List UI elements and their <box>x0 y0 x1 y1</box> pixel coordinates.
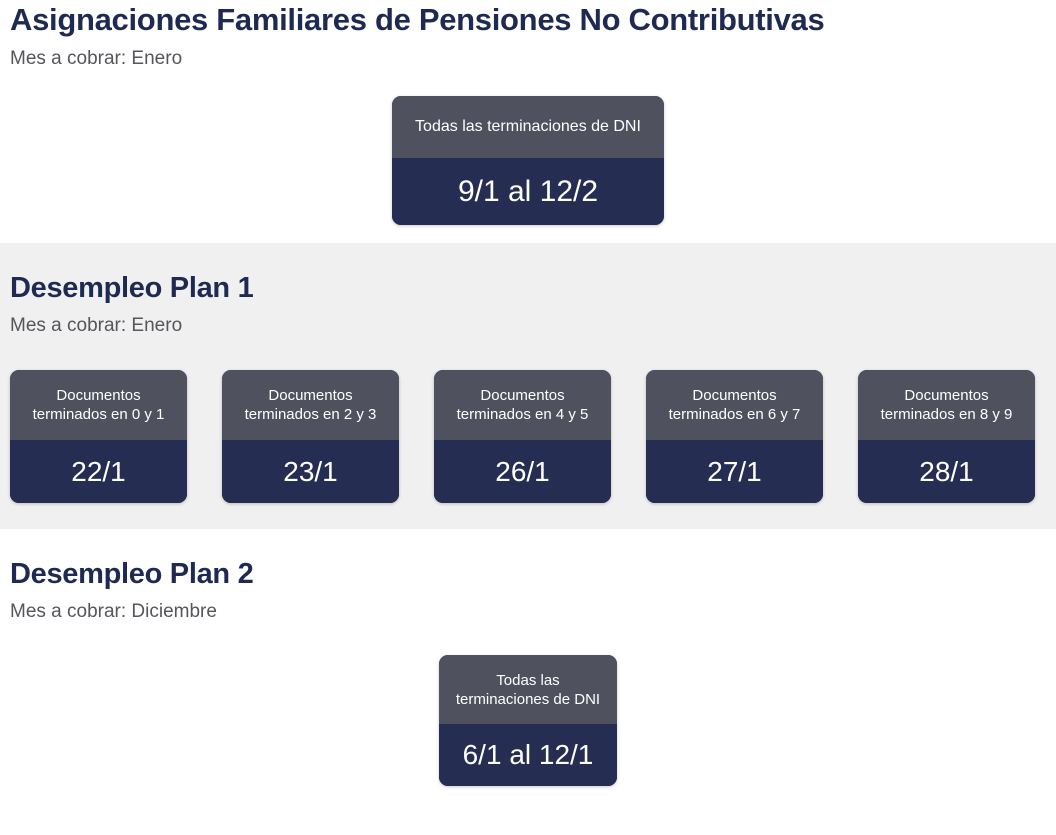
section-desempleo-plan-2: Desempleo Plan 2 Mes a cobrar: Diciembre… <box>0 529 1056 786</box>
payment-card[interactable]: Documentos terminados en 0 y 1 22/1 <box>10 370 187 503</box>
payment-card-header: Todas las terminaciones de DNI <box>439 655 617 724</box>
section-title: Desempleo Plan 1 <box>10 271 1046 305</box>
payment-card-header-line: terminados en 0 y 1 <box>33 405 165 424</box>
card-row-asignaciones: Todas las terminaciones de DNI 9/1 al 12… <box>10 96 1046 225</box>
page-title: Asignaciones Familiares de Pensiones No … <box>10 2 1046 39</box>
payment-card-date: 23/1 <box>222 440 399 503</box>
payment-card-header-line: Documentos <box>457 386 589 405</box>
payment-card-header: Documentos terminados en 8 y 9 <box>858 370 1035 440</box>
payment-card-header-line: Todas las terminaciones de DNI <box>415 117 641 137</box>
card-row-desempleo-plan-1: Documentos terminados en 0 y 1 22/1 Docu… <box>10 370 1046 503</box>
payment-card-header: Documentos terminados en 0 y 1 <box>10 370 187 440</box>
payment-card-date: 26/1 <box>434 440 611 503</box>
payment-card-date: 22/1 <box>10 440 187 503</box>
payment-card-date: 28/1 <box>858 440 1035 503</box>
payment-calendar-page: Asignaciones Familiares de Pensiones No … <box>0 0 1056 835</box>
section-subtitle: Mes a cobrar: Diciembre <box>10 601 1046 624</box>
section-subtitle: Mes a cobrar: Enero <box>10 48 1046 71</box>
payment-card[interactable]: Todas las terminaciones de DNI 9/1 al 12… <box>392 96 664 225</box>
payment-card-header-line: Todas las <box>456 671 600 690</box>
payment-card-header-line: Documentos <box>669 386 801 405</box>
payment-card-header: Documentos terminados en 4 y 5 <box>434 370 611 440</box>
payment-card-header-line: terminados en 8 y 9 <box>881 405 1013 424</box>
payment-card[interactable]: Documentos terminados en 6 y 7 27/1 <box>646 370 823 503</box>
payment-card-header: Documentos terminados en 2 y 3 <box>222 370 399 440</box>
payment-card[interactable]: Documentos terminados en 4 y 5 26/1 <box>434 370 611 503</box>
payment-card-date: 27/1 <box>646 440 823 503</box>
payment-card-header-line: terminaciones de DNI <box>456 690 600 709</box>
payment-card-header-line: terminados en 6 y 7 <box>669 405 801 424</box>
card-row-desempleo-plan-2: Todas las terminaciones de DNI 6/1 al 12… <box>10 655 1046 786</box>
payment-card[interactable]: Todas las terminaciones de DNI 6/1 al 12… <box>439 655 617 786</box>
payment-card[interactable]: Documentos terminados en 8 y 9 28/1 <box>858 370 1035 503</box>
payment-card-header: Documentos terminados en 6 y 7 <box>646 370 823 440</box>
payment-card-header-line: Documentos <box>33 386 165 405</box>
payment-card-header-line: Documentos <box>245 386 377 405</box>
payment-card-date: 6/1 al 12/1 <box>439 724 617 786</box>
payment-card-header-line: Documentos <box>881 386 1013 405</box>
section-desempleo-plan-1: Desempleo Plan 1 Mes a cobrar: Enero Doc… <box>0 243 1056 529</box>
section-asignaciones-familiares-pnc: Asignaciones Familiares de Pensiones No … <box>0 0 1056 243</box>
section-title: Desempleo Plan 2 <box>10 557 1046 591</box>
payment-card-header: Todas las terminaciones de DNI <box>392 96 664 158</box>
section-subtitle: Mes a cobrar: Enero <box>10 315 1046 338</box>
payment-card-date: 9/1 al 12/2 <box>392 158 664 225</box>
payment-card-header-line: terminados en 4 y 5 <box>457 405 589 424</box>
payment-card[interactable]: Documentos terminados en 2 y 3 23/1 <box>222 370 399 503</box>
payment-card-header-line: terminados en 2 y 3 <box>245 405 377 424</box>
